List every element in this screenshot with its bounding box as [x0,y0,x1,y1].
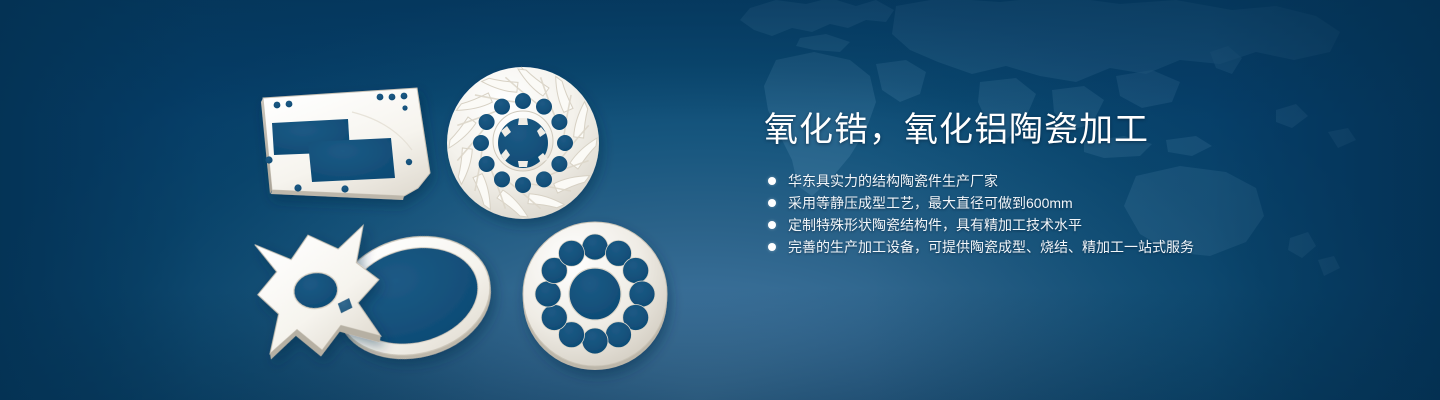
product-ceramic-plate [261,88,430,200]
feature-text: 完善的生产加工设备，可提供陶瓷成型、烧结、精加工一站式服务 [788,239,1194,255]
bullet-dot-icon [768,243,776,251]
feature-text: 华东具实力的结构陶瓷件生产厂家 [788,173,998,189]
product-photo-cluster [0,0,720,400]
product-ceramic-impeller [446,66,600,220]
product-ceramic-perforated-disc [523,222,667,370]
feature-item: 完善的生产加工设备，可提供陶瓷成型、烧结、精加工一站式服务 [764,236,1384,258]
promo-banner: 氧化锆，氧化铝陶瓷加工 华东具实力的结构陶瓷件生产厂家 采用等静压成型工艺，最大… [0,0,1440,400]
feature-text: 采用等静压成型工艺，最大直径可做到600mm [788,195,1073,211]
bullet-dot-icon [768,221,776,229]
banner-copy: 氧化锆，氧化铝陶瓷加工 华东具实力的结构陶瓷件生产厂家 采用等静压成型工艺，最大… [764,108,1384,258]
feature-item: 采用等静压成型工艺，最大直径可做到600mm [764,192,1384,214]
feature-item: 定制特殊形状陶瓷结构件，具有精加工技术水平 [764,214,1384,236]
feature-list: 华东具实力的结构陶瓷件生产厂家 采用等静压成型工艺，最大直径可做到600mm 定… [764,170,1384,258]
feature-text: 定制特殊形状陶瓷结构件，具有精加工技术水平 [788,217,1082,233]
bullet-dot-icon [768,199,776,207]
bullet-dot-icon [768,177,776,185]
banner-headline: 氧化锆，氧化铝陶瓷加工 [764,108,1384,152]
feature-item: 华东具实力的结构陶瓷件生产厂家 [764,170,1384,192]
